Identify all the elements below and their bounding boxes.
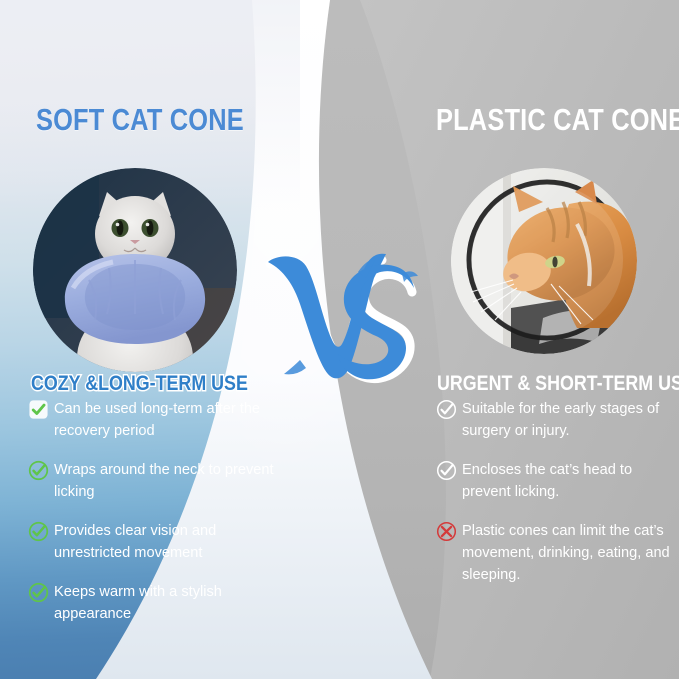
left-feature-list: Can be used long-term after the recovery… <box>28 398 283 642</box>
check-circle-icon <box>28 460 49 481</box>
list-item-text: Provides clear vision and unrestricted m… <box>54 520 283 564</box>
left-title: SOFT CAT CONE <box>36 103 244 137</box>
list-item-text: Can be used long-term after the recovery… <box>54 398 283 442</box>
list-item: Can be used long-term after the recovery… <box>28 398 283 442</box>
right-title: PLASTIC CAT CONE <box>436 103 679 137</box>
check-circle-icon <box>28 582 49 603</box>
right-subhead: URGENT & SHORT-TERM USE <box>437 372 679 396</box>
list-item-text: Plastic cones can limit the cat’s moveme… <box>462 520 676 586</box>
check-circle-icon <box>436 460 457 481</box>
list-item: Provides clear vision and unrestricted m… <box>28 520 283 564</box>
cross-circle-icon <box>436 521 457 542</box>
list-item: Suitable for the early stages of surgery… <box>436 398 676 442</box>
list-item: Plastic cones can limit the cat’s moveme… <box>436 520 676 586</box>
list-item-text: Keeps warm with a stylish appearance <box>54 581 283 625</box>
versus-badge: VS <box>262 248 422 400</box>
left-subhead: COZY &LONG-TERM USE <box>31 372 248 396</box>
list-item: Encloses the cat’s head to prevent licki… <box>436 459 676 503</box>
right-feature-list: Suitable for the early stages of surgery… <box>436 398 676 603</box>
list-item: Keeps warm with a stylish appearance <box>28 581 283 625</box>
comparison-infographic: SOFT CAT CONE <box>0 0 679 679</box>
left-product-photo <box>33 168 237 372</box>
list-item-text: Suitable for the early stages of surgery… <box>462 398 676 442</box>
list-item-text: Wraps around the neck to prevent licking <box>54 459 283 503</box>
check-square-icon <box>28 399 49 420</box>
list-item-text: Encloses the cat’s head to prevent licki… <box>462 459 676 503</box>
check-circle-icon <box>28 521 49 542</box>
right-product-photo <box>451 168 637 354</box>
check-circle-icon <box>436 399 457 420</box>
list-item: Wraps around the neck to prevent licking <box>28 459 283 503</box>
